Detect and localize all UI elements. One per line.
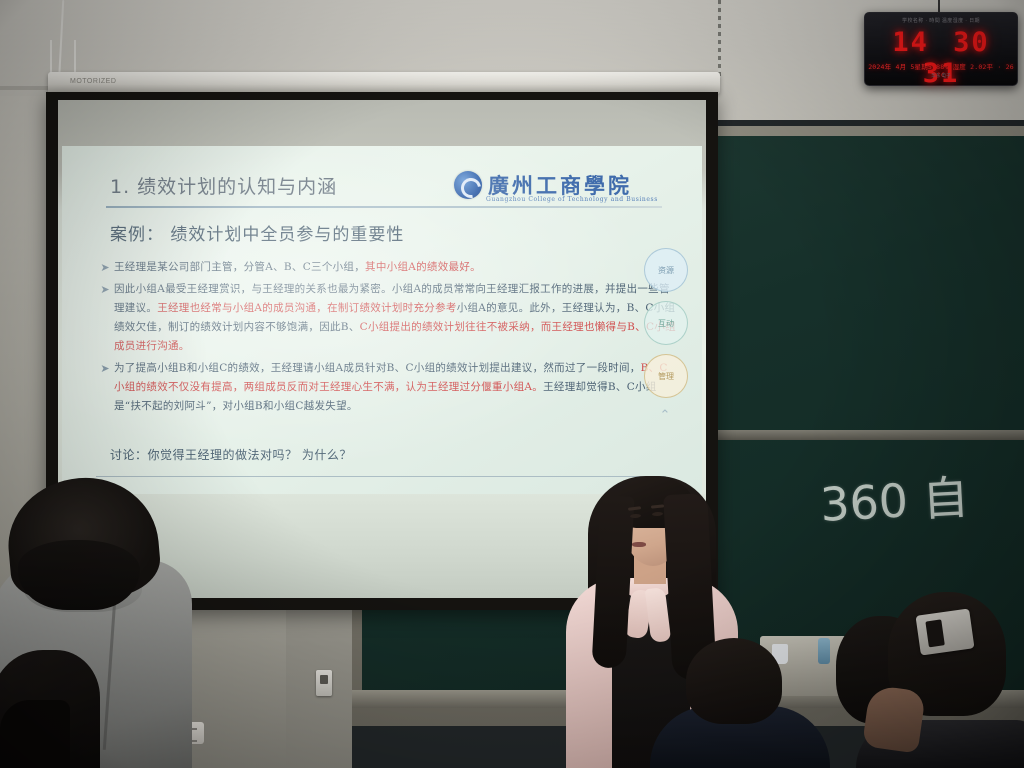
bullet-2-seg-1: 王经理也经常与小组A的成员沟通，在制订绩效计划时充分参考 [157, 302, 456, 314]
bullet-marker-icon: ➤ [96, 258, 114, 277]
slide-title: 1. 绩效计划的认知与内涵 [110, 172, 337, 199]
slide-bullet-list: ➤ 王经理是某公司部门主管，分管A、B、C三个小组，其中小组A的绩效最好。 ➤ … [96, 258, 678, 419]
light-switch[interactable] [316, 670, 332, 696]
presentation-slide: 1. 绩效计划的认知与内涵 廣州工商學院 Guangzhou College o… [62, 146, 702, 494]
list-item: ➤ 因此小组A最受王经理赏识，与王经理的关系也最为紧密。小组A的成员常常向王经理… [96, 280, 678, 356]
list-item: ➤ 王经理是某公司部门主管，分管A、B、C三个小组，其中小组A的绩效最好。 [96, 258, 678, 277]
bullet-1-seg-1: 其中小组A的绩效最好。 [365, 261, 481, 273]
university-name-en: Guangzhou College of Technology and Busi… [486, 196, 658, 203]
bullet-3-text: 为了提高小组B和小组C的绩效，王经理请小组A成员针对B、C小组的绩效计划提出建议… [114, 359, 678, 416]
bullet-1-text: 王经理是某公司部门主管，分管A、B、C三个小组，其中小组A的绩效最好。 [114, 258, 678, 277]
screen-chain [718, 0, 721, 78]
classroom-scene: 360 自 学校名称 · 時間 温度湿度 · 日期 14 30 31 2024年… [0, 0, 1024, 768]
bullet-3-seg-0: 为了提高小组B和小组C的绩效，王经理请小组A成员针对B、C小组的绩效计划提出建议… [114, 362, 641, 374]
side-button-resources[interactable]: 资源 [644, 248, 688, 292]
slide-footer-rule [96, 476, 666, 477]
digital-clock: 学校名称 · 時間 温度湿度 · 日期 14 30 31 2024年 4月 5星… [864, 12, 1018, 86]
bullet-marker-icon: ➤ [96, 280, 114, 356]
student-foreground-left [0, 700, 70, 768]
presenter-mouth [632, 542, 646, 547]
title-divider [106, 206, 662, 208]
list-item: ➤ 为了提高小组B和小组C的绩效，王经理请小组A成员针对B、C小组的绩效计划提出… [96, 359, 678, 416]
bullet-2-text: 因此小组A最受王经理赏识，与王经理的关系也最为紧密。小组A的成员常常向王经理汇报… [114, 280, 678, 356]
clock-minutes: 30 [953, 27, 990, 58]
swirl-logo-icon [454, 171, 482, 199]
side-button-management[interactable]: 管理 [644, 354, 688, 398]
projector-screen-roller [48, 72, 720, 94]
chevron-up-icon[interactable]: ⌃ [644, 407, 686, 423]
slide-side-toolbar[interactable]: 资源 互动 管理 ⌃ [644, 248, 692, 423]
clock-hours: 14 [892, 27, 929, 58]
hair-clip [915, 608, 974, 655]
clock-time-display: 14 30 31 [865, 27, 1017, 89]
student-fg-center-head [686, 638, 782, 724]
roller-brand-label: MOTORIZED [70, 78, 116, 85]
chalk-writing: 360 自 [818, 461, 970, 535]
student-left-hair-lower [18, 540, 140, 610]
clock-brand-text: 华东 电子 [865, 73, 1017, 79]
bottle [818, 638, 830, 664]
case-heading: 案例： 绩效计划中全员参与的重要性 [110, 220, 404, 245]
clock-header-text: 学校名称 · 時間 温度湿度 · 日期 [865, 17, 1017, 24]
bullet-1-seg-0: 王经理是某公司部门主管，分管A、B、C三个小组， [114, 261, 365, 273]
discussion-prompt: 讨论：你觉得王经理的做法对吗？ 为什么？ [110, 446, 352, 463]
bullet-marker-icon: ➤ [96, 359, 114, 416]
side-button-interaction[interactable]: 互动 [644, 301, 688, 345]
